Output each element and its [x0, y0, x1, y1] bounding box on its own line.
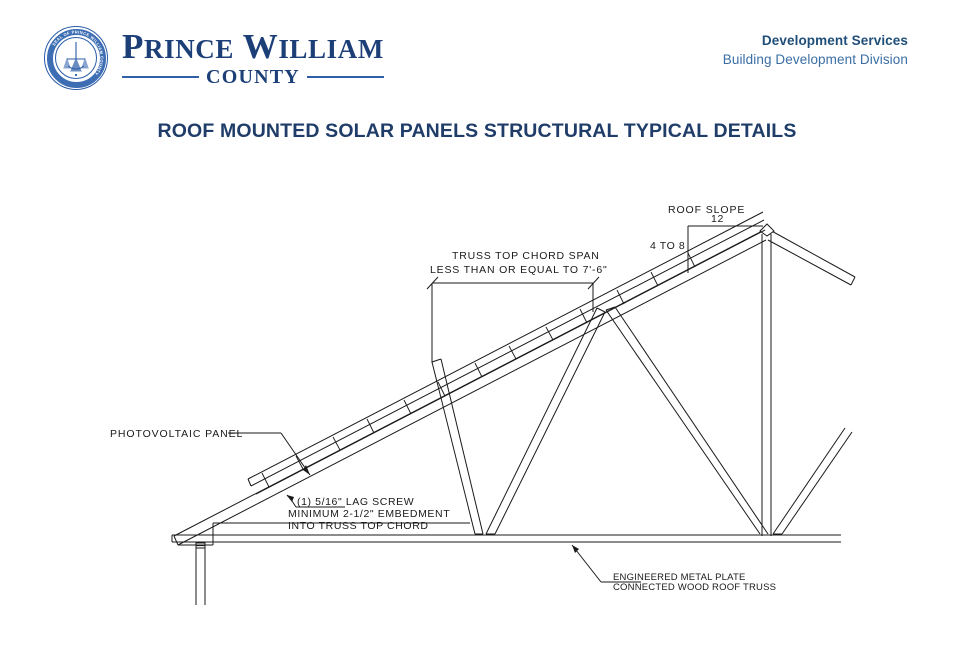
wordmark-rule-right — [307, 76, 384, 78]
technical-drawing: ROOF SLOPE 12 4 TO 8 TRUSS TOP CHORD SPA… — [0, 160, 954, 630]
county-logo: SEAL OF PRINCE WILLIAM COUNTY — [44, 26, 384, 90]
pv-panel-label: PHOTOVOLTAIC PANEL — [110, 428, 243, 440]
span-note-line-2: LESS THAN OR EQUAL TO 7'-6" — [430, 264, 608, 276]
seal-crest-icon — [55, 37, 97, 79]
lag-screw-line-2: MINIMUM 2-1/2" EMBEDMENT — [288, 508, 450, 520]
web-member-3 — [606, 307, 768, 534]
department-block: Development Services Building Developmen… — [723, 31, 908, 69]
truss-label-line-2: CONNECTED WOOD ROOF TRUSS — [613, 582, 776, 593]
bottom-chord — [172, 535, 841, 542]
slope-rise-label: 4 TO 8 — [650, 240, 685, 252]
span-note-line-1: TRUSS TOP CHORD SPAN — [452, 250, 600, 262]
slope-run-label: 12 — [711, 213, 724, 225]
top-chord-right — [768, 229, 855, 285]
county-seal-icon: SEAL OF PRINCE WILLIAM COUNTY — [44, 26, 108, 90]
page-header: SEAL OF PRINCE WILLIAM COUNTY — [0, 0, 954, 104]
king-post — [762, 234, 771, 536]
web-member-2 — [486, 308, 605, 534]
lag-screw-line-3: INTO TRUSS TOP CHORD — [288, 520, 429, 532]
truss-section-svg: ROOF SLOPE 12 4 TO 8 TRUSS TOP CHORD SPA… — [0, 160, 954, 630]
wordmark-county: COUNTY — [206, 66, 300, 89]
page-title: ROOF MOUNTED SOLAR PANELS STRUCTURAL TYP… — [0, 120, 954, 143]
division-name: Building Development Division — [723, 50, 908, 69]
roof-slope-label: ROOF SLOPE — [668, 204, 745, 216]
wordmark-county-row: COUNTY — [122, 66, 384, 89]
bearing-wall — [196, 543, 205, 605]
wordmark-prince-william: PRINCE WILLIAM — [122, 28, 384, 68]
document-page: SEAL OF PRINCE WILLIAM COUNTY — [0, 0, 954, 654]
panel-standoffs — [262, 253, 695, 487]
department-name: Development Services — [723, 31, 908, 50]
wordmark-rule-left — [122, 76, 199, 78]
top-chord-left — [174, 229, 766, 545]
web-member-4 — [773, 428, 852, 534]
county-wordmark: PRINCE WILLIAM COUNTY — [122, 28, 384, 89]
lag-screw-line-1: (1) 5/16" LAG SCREW — [297, 496, 414, 508]
